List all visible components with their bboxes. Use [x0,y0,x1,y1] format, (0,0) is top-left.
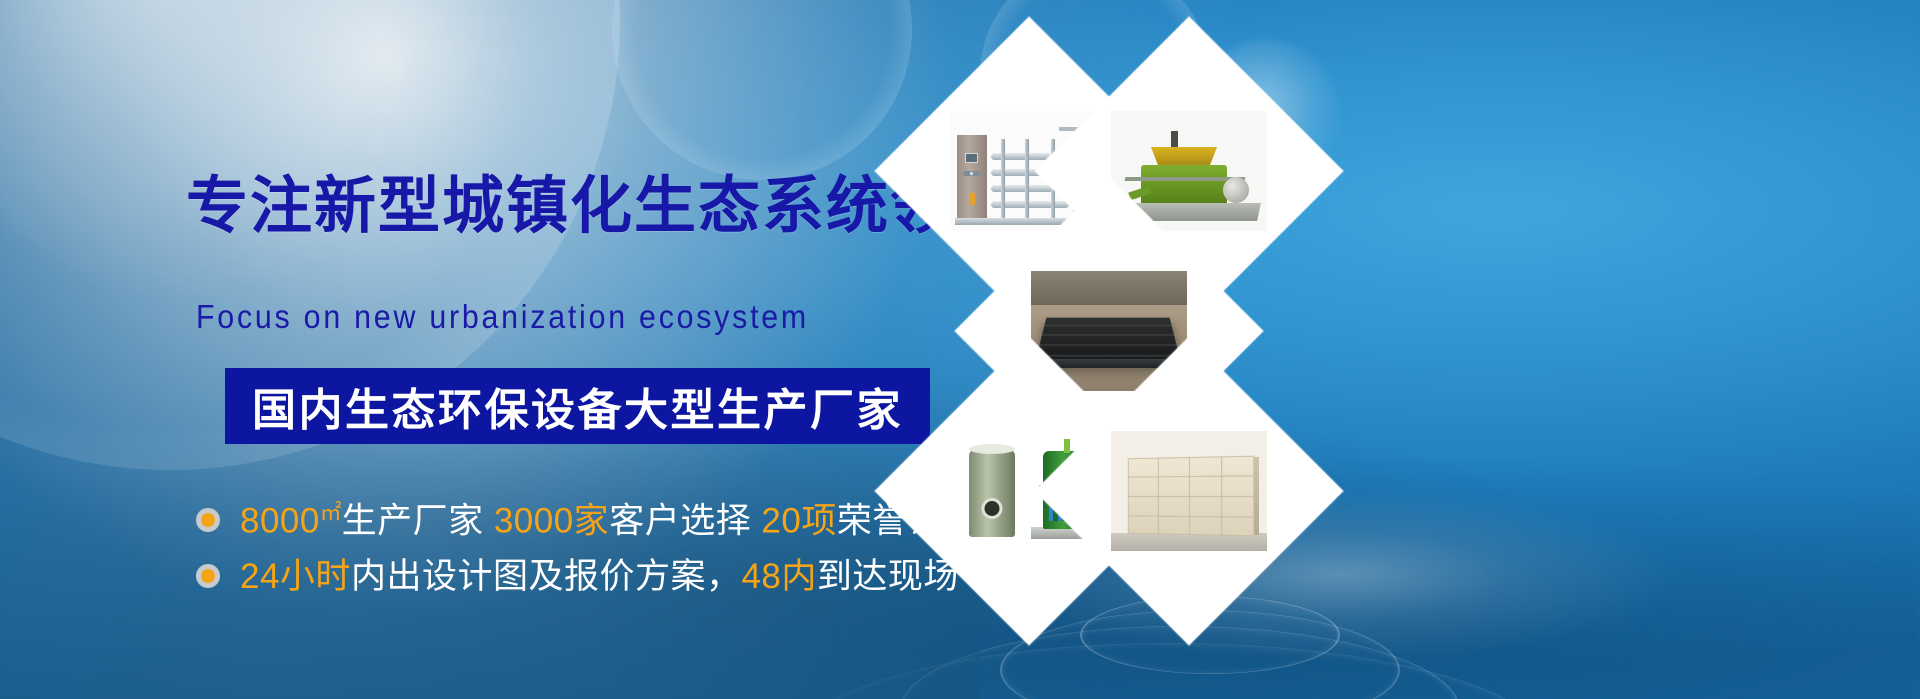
filled-dot-icon [196,508,220,532]
photo-aerated-blocks [1111,431,1267,551]
copy-block: 专注新型城镇化生态系统领域 Focus on new urbanization … [0,0,960,699]
bullet-segment: 48内 [741,557,816,596]
bullet-segment: 客户选择 [609,501,761,540]
bullet-segment: 到达现场 [817,557,959,596]
bullet-item-1: 8000㎡生产厂家 3000家客户选择 20项荣誉证书 [196,492,979,548]
filled-dot-icon [196,564,220,588]
bullet-segment: 8000 [240,501,320,540]
bullet-segment: 3000家 [494,501,609,540]
bullet-list: 8000㎡生产厂家 3000家客户选择 20项荣誉证书 24小时内出设计图及报价… [196,492,979,604]
bullet-segment: ㎡ [320,500,342,525]
subheadline: Focus on new urbanization ecosystem [196,300,809,333]
cta-banner-text: 国内生态环保设备大型生产厂家 [252,374,903,438]
bullet-item-2: 24小时内出设计图及报价方案，48内到达现场 [196,548,979,604]
cta-banner-box: 国内生态环保设备大型生产厂家 [225,368,930,444]
bullet-segment: 24小时 [240,557,351,596]
bullet-text-1: 8000㎡生产厂家 3000家客户选择 20项荣誉证书 [240,502,979,539]
bullet-segment: 生产厂家 [342,501,494,540]
bullet-segment: 20项 [761,501,836,540]
product-photo-grid [900,40,1320,480]
bullet-text-2: 24小时内出设计图及报价方案，48内到达现场 [240,559,959,594]
banner-hero: 专注新型城镇化生态系统领域 Focus on new urbanization … [0,0,1920,699]
bullet-segment: 内出设计图及报价方案， [351,557,742,596]
